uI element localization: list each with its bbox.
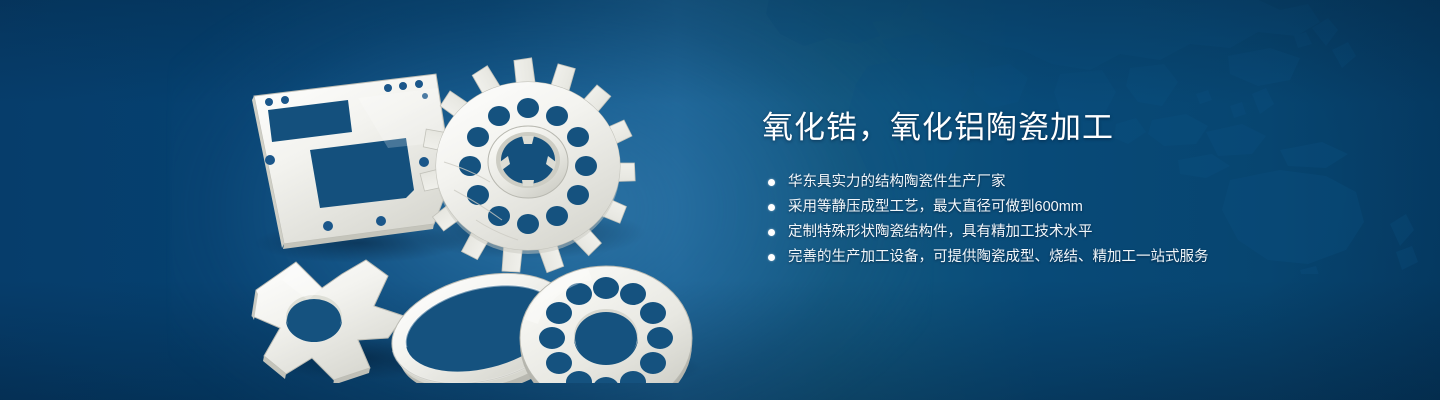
feature-text: 定制特殊形状陶瓷结构件，具有精加工技术水平 (788, 220, 1093, 245)
feature-item: 定制特殊形状陶瓷结构件，具有精加工技术水平 (768, 220, 1322, 245)
hero-banner: 氧化锆，氧化铝陶瓷加工 华东具实力的结构陶瓷件生产厂家 采用等静压成型工艺，最大… (0, 0, 1440, 400)
banner-headline: 氧化锆，氧化铝陶瓷加工 (762, 108, 1322, 148)
feature-list: 华东具实力的结构陶瓷件生产厂家 采用等静压成型工艺，最大直径可做到600mm 定… (762, 170, 1322, 270)
feature-text: 采用等静压成型工艺，最大直径可做到600mm (788, 195, 1083, 220)
ceramic-products-image (238, 38, 708, 383)
bullet-dot-icon (768, 204, 775, 211)
bullet-dot-icon (768, 229, 775, 236)
part-ceramic-plate (252, 74, 454, 249)
feature-text: 华东具实力的结构陶瓷件生产厂家 (788, 170, 1006, 195)
feature-item: 完善的生产加工设备，可提供陶瓷成型、烧结、精加工一站式服务 (768, 245, 1322, 270)
bullet-dot-icon (768, 254, 775, 261)
feature-text: 完善的生产加工设备，可提供陶瓷成型、烧结、精加工一站式服务 (788, 245, 1209, 270)
feature-item: 采用等静压成型工艺，最大直径可做到600mm (768, 195, 1322, 220)
bullet-dot-icon (768, 179, 775, 186)
banner-copy: 氧化锆，氧化铝陶瓷加工 华东具实力的结构陶瓷件生产厂家 采用等静压成型工艺，最大… (762, 108, 1322, 270)
feature-item: 华东具实力的结构陶瓷件生产厂家 (768, 170, 1322, 195)
